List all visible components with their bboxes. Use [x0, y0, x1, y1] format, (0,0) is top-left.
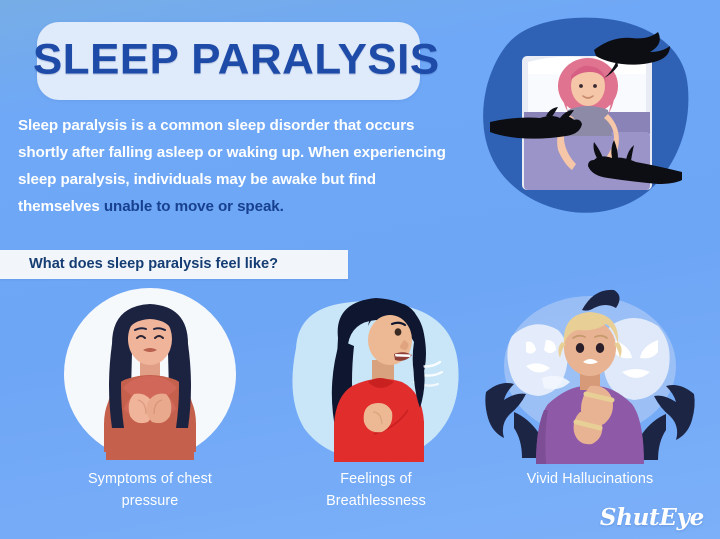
teeth: [395, 354, 411, 357]
infographic-poster: SLEEP PARALYSIS Sleep paralysis is a com…: [0, 0, 720, 539]
intro-text-emphasis: unable to move or speak.: [104, 198, 284, 215]
page-title-inner: SLEEP PARALYSIS: [33, 36, 440, 85]
title-badge: SLEEP PARALYSIS: [37, 22, 420, 100]
symptom-label-line2: pressure: [42, 490, 258, 512]
symptom-label-line2: Breathlessness: [268, 490, 484, 512]
woman-clutching-chest-icon: [42, 282, 258, 464]
brand-logo: ShutEye: [600, 504, 704, 531]
eye-left: [579, 84, 583, 88]
symptom-label-line1: Feelings of: [268, 468, 484, 490]
page-title: SLEEP PARALYSIS: [37, 36, 420, 85]
symptom-card-breathlessness: Feelings of Breathlessness: [268, 282, 484, 522]
symptom-label-breathlessness: Feelings of Breathlessness: [268, 468, 484, 512]
eye-right: [593, 84, 597, 88]
intro-paragraph: Sleep paralysis is a common sleep disord…: [18, 112, 450, 220]
symptom-label-line1: Symptoms of chest: [42, 468, 258, 490]
eye-left: [576, 343, 584, 353]
woman-breathless-icon: [268, 282, 484, 464]
symptom-card-chest-pressure: Symptoms of chest pressure: [42, 282, 258, 522]
symptom-label-line1: Vivid Hallucinations: [482, 468, 698, 490]
eye-right: [596, 343, 604, 353]
eye: [395, 328, 402, 336]
section-heading-bar: What does sleep paralysis feel like?: [0, 250, 348, 279]
section-heading: What does sleep paralysis feel like?: [29, 250, 278, 279]
symptom-label-hallucinations: Vivid Hallucinations: [482, 468, 698, 490]
shadow-hand-left: [490, 116, 582, 139]
symptom-label-chest-pressure: Symptoms of chest pressure: [42, 468, 258, 512]
person-in-bed-with-shadow-hands-icon: [472, 14, 702, 219]
symptom-card-hallucinations: Vivid Hallucinations: [482, 282, 698, 522]
person-with-ghosts-hallucination-icon: [482, 282, 698, 464]
